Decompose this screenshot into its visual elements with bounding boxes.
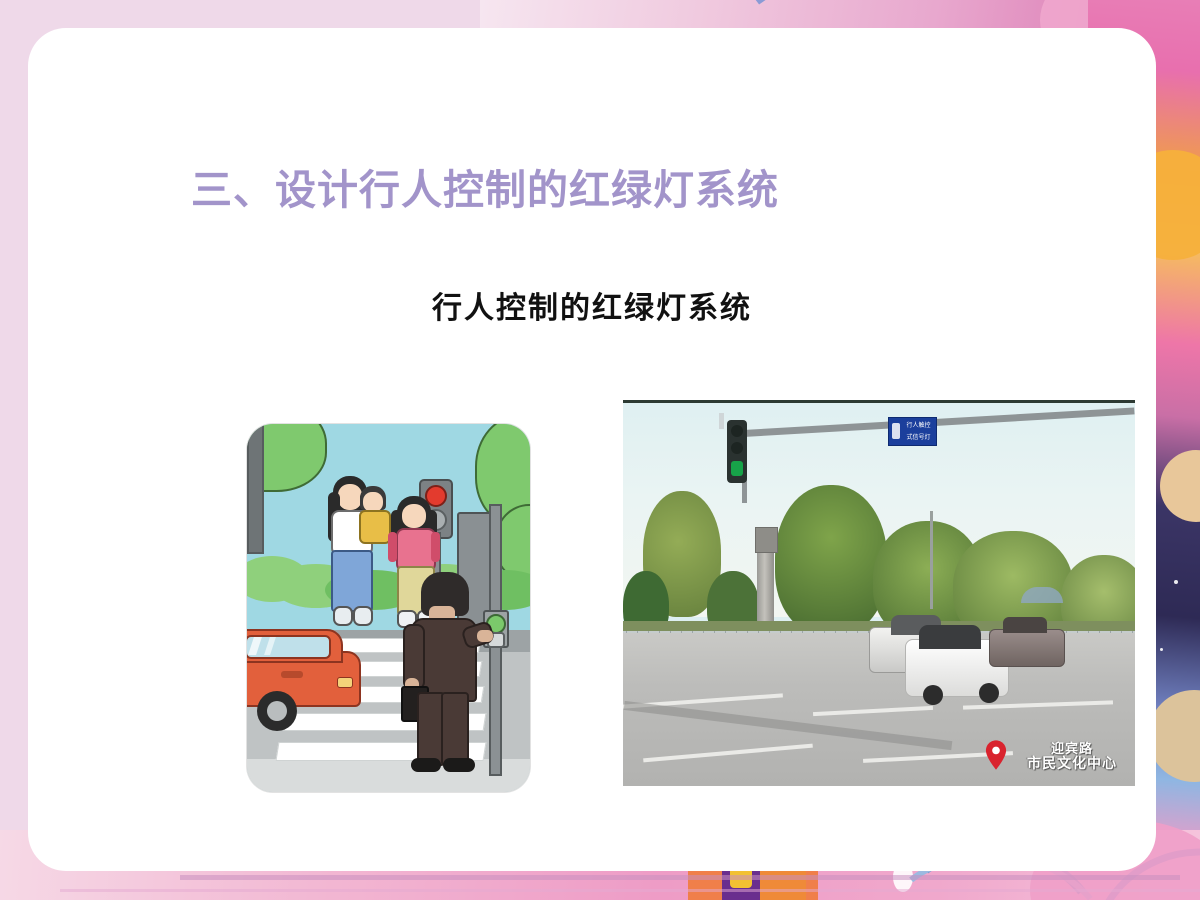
map-pin-icon — [985, 740, 1007, 770]
car-white-window — [919, 625, 981, 649]
traffic-light-icon — [727, 420, 747, 483]
utility-pole — [247, 424, 264, 554]
decor-rect-orange-2 — [760, 866, 806, 900]
car-dark-suv-roof — [1003, 617, 1047, 633]
car-illustration — [247, 629, 379, 734]
illustration-sidewalk — [247, 759, 530, 792]
location-label: 迎宾路 市民文化中心 — [1027, 742, 1117, 772]
pedestrian-signal-sign: 行人触控 式信号灯 — [888, 417, 937, 446]
content-card: 三、设计行人控制的红绿灯系统 行人控制的红绿灯系统 — [28, 28, 1156, 871]
sign-text-line-2: 式信号灯 — [901, 434, 936, 442]
page-subtitle: 行人控制的红绿灯系统 — [28, 283, 1156, 327]
decor-band-line — [180, 875, 1180, 880]
monument-sign — [755, 527, 778, 553]
traffic-light-red — [731, 425, 743, 437]
car-wheel — [923, 685, 943, 705]
pedestrian-symbol-icon — [892, 423, 900, 439]
car-wheel — [979, 683, 999, 703]
decor-star — [1160, 648, 1163, 651]
decor-star — [1174, 580, 1178, 584]
intersection-photo: 行人触控 式信号灯 — [623, 400, 1135, 786]
traffic-light-yellow — [731, 442, 743, 454]
person-man-pressing-button — [399, 572, 487, 778]
car-dark-suv — [989, 629, 1065, 667]
location-line-1: 迎宾路 — [1027, 742, 1117, 757]
location-line-2: 市民文化中心 — [1027, 757, 1117, 772]
cartoon-illustration — [247, 424, 530, 792]
sign-hanger — [719, 413, 724, 429]
sign-text-line-1: 行人触控 — [901, 422, 936, 430]
street-lamp — [930, 511, 933, 609]
decor-band-line-2 — [60, 889, 1200, 892]
page-title: 三、设计行人控制的红绿灯系统 — [191, 156, 779, 216]
slide-canvas: 三、设计行人控制的红绿灯系统 行人控制的红绿灯系统 — [0, 0, 1200, 900]
tree-icon — [775, 485, 887, 635]
traffic-light-green — [731, 461, 743, 476]
stadium-dome — [1021, 587, 1063, 603]
